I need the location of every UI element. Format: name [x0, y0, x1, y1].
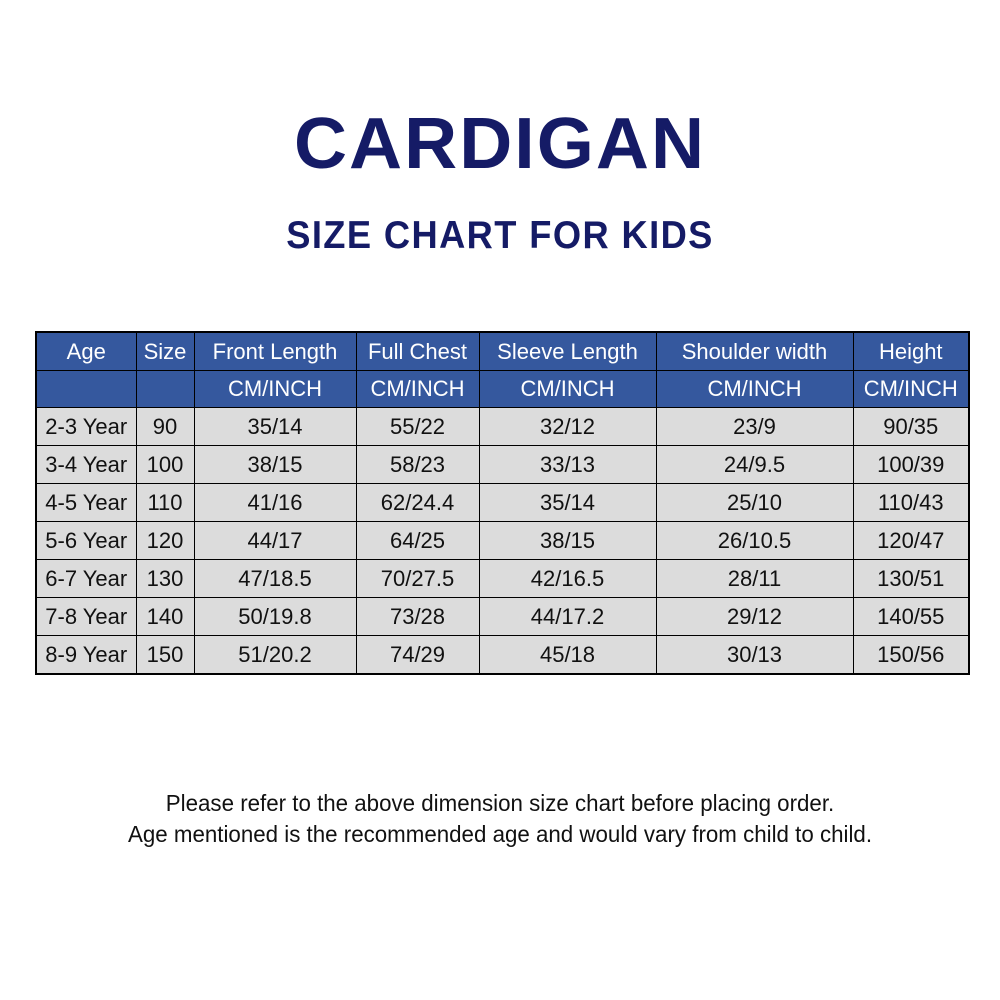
column-header-full-chest: Full Chest: [356, 332, 479, 371]
cell-height: 150/56: [853, 636, 969, 675]
table-row: 5-6 Year 120 44/17 64/25 38/15 26/10.5 1…: [36, 522, 969, 560]
table-row: 4-5 Year 110 41/16 62/24.4 35/14 25/10 1…: [36, 484, 969, 522]
table-row: 7-8 Year 140 50/19.8 73/28 44/17.2 29/12…: [36, 598, 969, 636]
footer-note-line-1: Please refer to the above dimension size…: [15, 788, 985, 819]
cell-height: 140/55: [853, 598, 969, 636]
cell-full-chest: 58/23: [356, 446, 479, 484]
column-header-front-length: Front Length: [194, 332, 356, 371]
unit-header-shoulder-width: CM/INCH: [656, 371, 853, 408]
page-subtitle: SIZE CHART FOR KIDS: [35, 180, 965, 255]
cell-front-length: 35/14: [194, 408, 356, 446]
cell-shoulder-width: 29/12: [656, 598, 853, 636]
unit-header-full-chest: CM/INCH: [356, 371, 479, 408]
cell-height: 100/39: [853, 446, 969, 484]
cell-age: 7-8 Year: [36, 598, 136, 636]
cell-shoulder-width: 25/10: [656, 484, 853, 522]
unit-header-height: CM/INCH: [853, 371, 969, 408]
cell-age: 6-7 Year: [36, 560, 136, 598]
page-title: CARDIGAN: [0, 108, 1000, 180]
cell-age: 8-9 Year: [36, 636, 136, 675]
cell-full-chest: 55/22: [356, 408, 479, 446]
cell-age: 3-4 Year: [36, 446, 136, 484]
cell-height: 110/43: [853, 484, 969, 522]
cell-sleeve-length: 33/13: [479, 446, 656, 484]
cell-size: 130: [136, 560, 194, 598]
cell-height: 90/35: [853, 408, 969, 446]
cell-full-chest: 73/28: [356, 598, 479, 636]
column-header-size: Size: [136, 332, 194, 371]
cell-height: 120/47: [853, 522, 969, 560]
table-row: 8-9 Year 150 51/20.2 74/29 45/18 30/13 1…: [36, 636, 969, 675]
cell-shoulder-width: 30/13: [656, 636, 853, 675]
cell-sleeve-length: 42/16.5: [479, 560, 656, 598]
title-block: CARDIGAN SIZE CHART FOR KIDS: [0, 108, 1000, 255]
cell-age: 5-6 Year: [36, 522, 136, 560]
cell-sleeve-length: 38/15: [479, 522, 656, 560]
cell-full-chest: 64/25: [356, 522, 479, 560]
cell-shoulder-width: 26/10.5: [656, 522, 853, 560]
size-chart-table-wrapper: Age Size Front Length Full Chest Sleeve …: [35, 331, 968, 675]
footer-note-line-2: Age mentioned is the recommended age and…: [15, 819, 985, 850]
cell-height: 130/51: [853, 560, 969, 598]
cell-full-chest: 74/29: [356, 636, 479, 675]
cell-age: 4-5 Year: [36, 484, 136, 522]
table-body: 2-3 Year 90 35/14 55/22 32/12 23/9 90/35…: [36, 408, 969, 675]
cell-age: 2-3 Year: [36, 408, 136, 446]
unit-header-size: [136, 371, 194, 408]
cell-full-chest: 70/27.5: [356, 560, 479, 598]
unit-header-front-length: CM/INCH: [194, 371, 356, 408]
cell-size: 90: [136, 408, 194, 446]
cell-size: 110: [136, 484, 194, 522]
cell-size: 150: [136, 636, 194, 675]
cell-size: 120: [136, 522, 194, 560]
cell-shoulder-width: 28/11: [656, 560, 853, 598]
cell-size: 140: [136, 598, 194, 636]
footer-note: Please refer to the above dimension size…: [0, 788, 1000, 850]
column-header-shoulder-width: Shoulder width: [656, 332, 853, 371]
cell-front-length: 51/20.2: [194, 636, 356, 675]
cell-sleeve-length: 44/17.2: [479, 598, 656, 636]
table-header-row-units: CM/INCH CM/INCH CM/INCH CM/INCH CM/INCH: [36, 371, 969, 408]
column-header-age: Age: [36, 332, 136, 371]
cell-sleeve-length: 45/18: [479, 636, 656, 675]
cell-sleeve-length: 32/12: [479, 408, 656, 446]
table-row: 6-7 Year 130 47/18.5 70/27.5 42/16.5 28/…: [36, 560, 969, 598]
cell-front-length: 47/18.5: [194, 560, 356, 598]
size-chart-table: Age Size Front Length Full Chest Sleeve …: [35, 331, 970, 675]
table-header-row-labels: Age Size Front Length Full Chest Sleeve …: [36, 332, 969, 371]
cell-front-length: 50/19.8: [194, 598, 356, 636]
unit-header-age: [36, 371, 136, 408]
column-header-height: Height: [853, 332, 969, 371]
cell-front-length: 44/17: [194, 522, 356, 560]
size-chart-page: CARDIGAN SIZE CHART FOR KIDS Age Size Fr…: [0, 0, 1000, 1000]
unit-header-sleeve-length: CM/INCH: [479, 371, 656, 408]
cell-front-length: 41/16: [194, 484, 356, 522]
cell-sleeve-length: 35/14: [479, 484, 656, 522]
table-header: Age Size Front Length Full Chest Sleeve …: [36, 332, 969, 408]
cell-shoulder-width: 24/9.5: [656, 446, 853, 484]
table-row: 3-4 Year 100 38/15 58/23 33/13 24/9.5 10…: [36, 446, 969, 484]
column-header-sleeve-length: Sleeve Length: [479, 332, 656, 371]
cell-front-length: 38/15: [194, 446, 356, 484]
cell-size: 100: [136, 446, 194, 484]
table-row: 2-3 Year 90 35/14 55/22 32/12 23/9 90/35: [36, 408, 969, 446]
cell-shoulder-width: 23/9: [656, 408, 853, 446]
cell-full-chest: 62/24.4: [356, 484, 479, 522]
